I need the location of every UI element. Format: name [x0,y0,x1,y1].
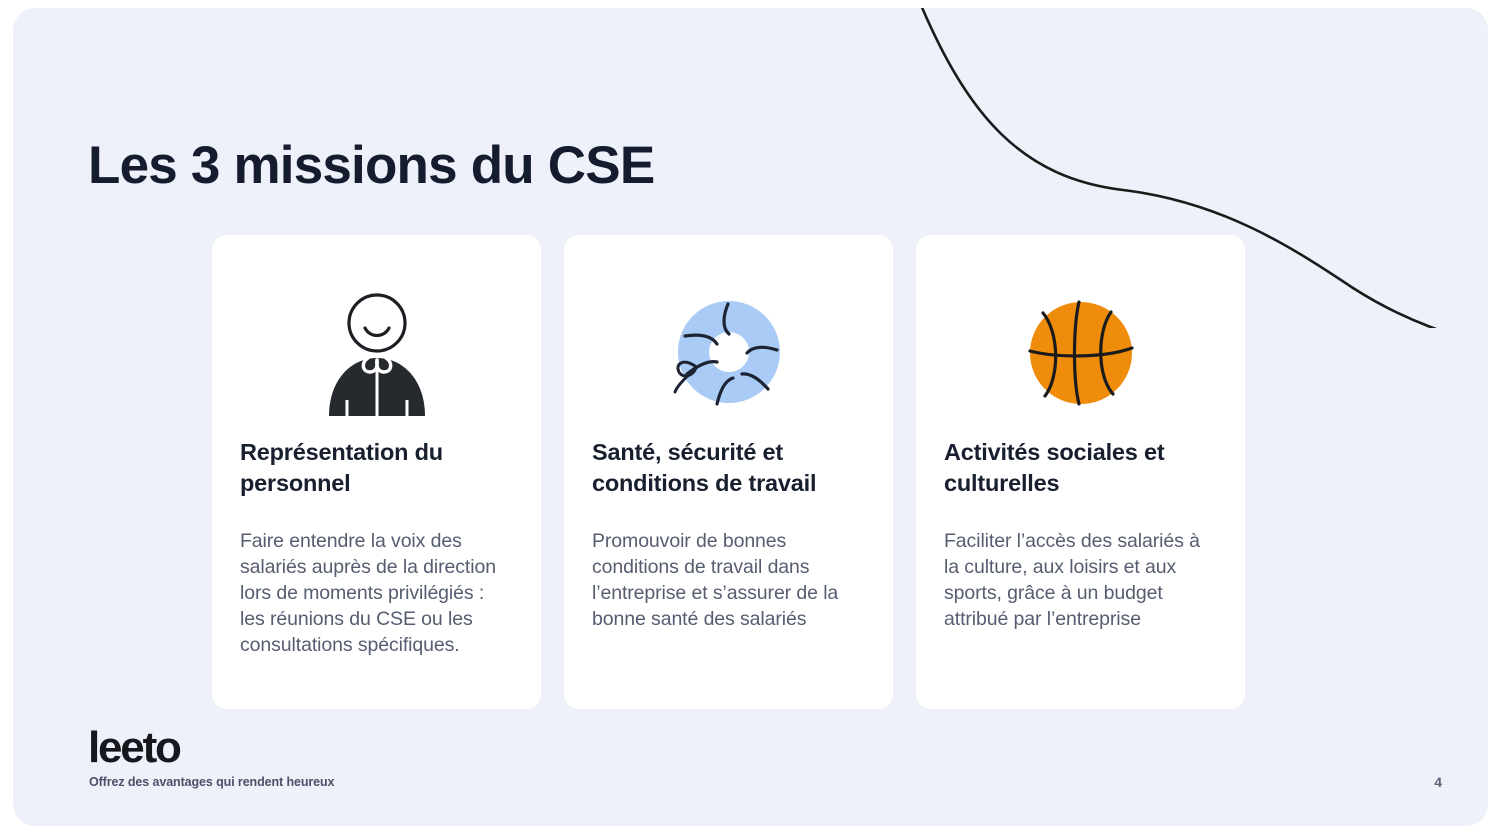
mission-card: Santé, sécurité et conditions de travail… [564,235,893,709]
mission-card: Activités sociales et culturelles Facili… [916,235,1245,709]
card-title: Activités sociales et culturelles [944,437,1217,499]
person-representative-icon [313,288,441,418]
card-icon-wrapper [240,283,513,423]
basketball-icon [1017,288,1145,418]
mission-card-list: Représentation du personnel Faire entend… [212,235,1256,709]
footer-tagline: Offrez des avantages qui rendent heureux [89,775,334,789]
life-buoy-icon [665,288,793,418]
page-number: 4 [1434,774,1442,790]
card-icon-wrapper [592,283,865,423]
card-title: Représentation du personnel [240,437,513,499]
leeto-logo: leeto [88,726,180,770]
slide-canvas: Les 3 missions du CSE [13,8,1488,826]
card-icon-wrapper [944,283,1217,423]
card-body: Promouvoir de bonnes conditions de trava… [592,529,865,633]
card-body: Faire entendre la voix des salariés aupr… [240,529,513,659]
card-title: Santé, sécurité et conditions de travail [592,437,865,499]
page-title: Les 3 missions du CSE [88,136,654,197]
mission-card: Représentation du personnel Faire entend… [212,235,541,709]
card-body: Faciliter l’accès des salariés à la cult… [944,529,1217,633]
